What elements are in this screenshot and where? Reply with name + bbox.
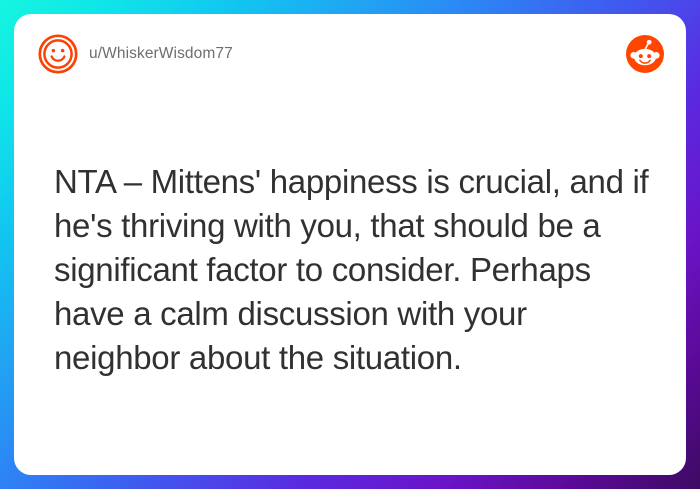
post-author-block[interactable]: u/WhiskerWisdom77 [38, 34, 233, 74]
post-text: NTA – Mittens' happiness is crucial, and… [54, 160, 654, 380]
reddit-post-card: u/WhiskerWisdom77 NTA – Mittens' ha [14, 14, 686, 475]
post-card-header: u/WhiskerWisdom77 [14, 14, 686, 98]
gradient-background: u/WhiskerWisdom77 NTA – Mittens' ha [0, 0, 700, 489]
post-author-username: u/WhiskerWisdom77 [89, 46, 233, 62]
post-body: NTA – Mittens' happiness is crucial, and… [54, 160, 654, 380]
smiley-face-avatar-icon[interactable] [38, 34, 78, 74]
reddit-snoo-logo-icon[interactable] [626, 35, 664, 73]
